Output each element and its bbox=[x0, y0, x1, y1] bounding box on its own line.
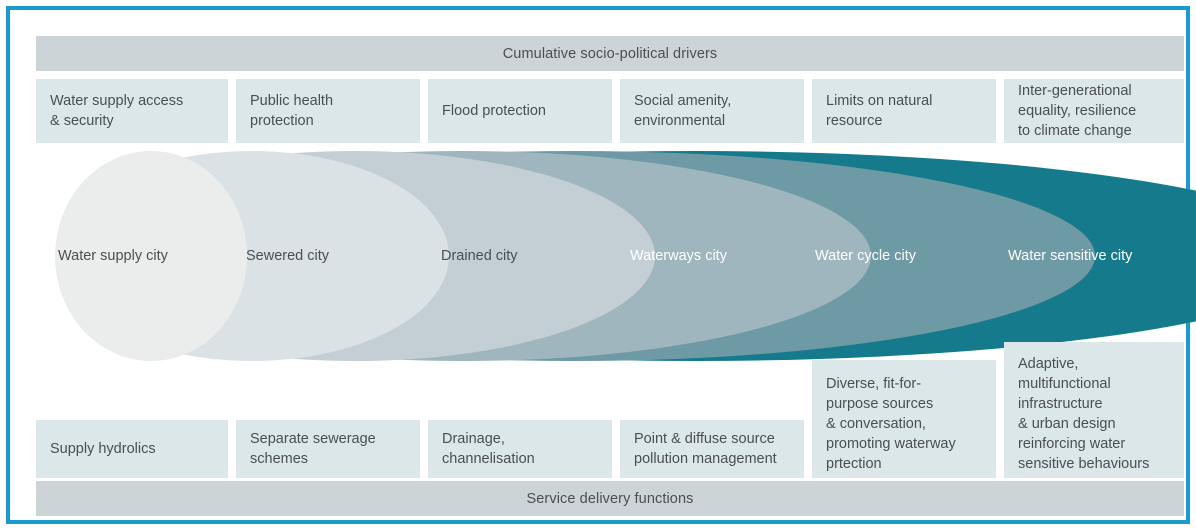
stage-label-water-cycle-city: Water cycle city bbox=[815, 248, 916, 264]
stage-label-water-supply-city: Water supply city bbox=[58, 248, 168, 264]
function-box-separate-sewerage[interactable]: Separate sewerageschemes bbox=[236, 420, 420, 478]
stage-label-drained-city: Drained city bbox=[441, 248, 518, 264]
driver-label: Social amenity,environmental bbox=[634, 91, 731, 131]
cumulative-drivers-banner: Cumulative socio-political drivers bbox=[36, 36, 1184, 71]
stage-ellipse bbox=[55, 151, 247, 361]
driver-box-inter-generational-equality[interactable]: Inter-generationalequality, resilienceto… bbox=[1004, 79, 1184, 143]
stage-ellipse bbox=[55, 151, 871, 361]
driver-box-public-health[interactable]: Public healthprotection bbox=[236, 79, 420, 143]
function-label: Separate sewerageschemes bbox=[250, 429, 376, 469]
figure-canvas: Cumulative socio-political drivers Water… bbox=[0, 0, 1196, 530]
stage-label-waterways-city: Waterways city bbox=[630, 248, 727, 264]
figure-content: Cumulative socio-political drivers Water… bbox=[20, 20, 1196, 530]
stage-label-water-sensitive-city: Water sensitive city bbox=[1008, 248, 1132, 264]
driver-label: Limits on naturalresource bbox=[826, 91, 932, 131]
driver-label: Public healthprotection bbox=[250, 91, 333, 131]
function-box-pollution-management[interactable]: Point & diffuse sourcepollution manageme… bbox=[620, 420, 804, 478]
function-label: Diverse, fit-for-purpose sources& conver… bbox=[826, 374, 956, 474]
stage-label-sewered-city: Sewered city bbox=[246, 248, 329, 264]
driver-box-flood-protection[interactable]: Flood protection bbox=[428, 79, 612, 143]
driver-label: Water supply access& security bbox=[50, 91, 183, 131]
stage-ellipse bbox=[55, 151, 655, 361]
service-delivery-banner: Service delivery functions bbox=[36, 481, 1184, 516]
function-label: Point & diffuse sourcepollution manageme… bbox=[634, 429, 777, 469]
driver-box-social-amenity[interactable]: Social amenity,environmental bbox=[620, 79, 804, 143]
function-label: Adaptive,multifunctionalinfrastructure& … bbox=[1018, 354, 1149, 474]
driver-label: Flood protection bbox=[442, 101, 546, 121]
stage-ellipse bbox=[55, 151, 1196, 361]
figure-frame-border: Cumulative socio-political drivers Water… bbox=[6, 6, 1190, 524]
stage-ellipse bbox=[55, 151, 1095, 361]
driver-box-water-supply-access[interactable]: Water supply access& security bbox=[36, 79, 228, 143]
driver-label: Inter-generationalequality, resilienceto… bbox=[1018, 81, 1136, 141]
driver-box-limits-natural-resource[interactable]: Limits on naturalresource bbox=[812, 79, 996, 143]
function-box-diverse-fit-for-purpose[interactable]: Diverse, fit-for-purpose sources& conver… bbox=[812, 360, 996, 478]
function-label: Drainage,channelisation bbox=[442, 429, 535, 469]
function-box-supply-hydrolics[interactable]: Supply hydrolics bbox=[36, 420, 228, 478]
function-label: Supply hydrolics bbox=[50, 439, 156, 459]
stage-ellipse bbox=[55, 151, 449, 361]
function-box-adaptive-multifunctional[interactable]: Adaptive,multifunctionalinfrastructure& … bbox=[1004, 342, 1184, 478]
function-box-drainage-channelisation[interactable]: Drainage,channelisation bbox=[428, 420, 612, 478]
